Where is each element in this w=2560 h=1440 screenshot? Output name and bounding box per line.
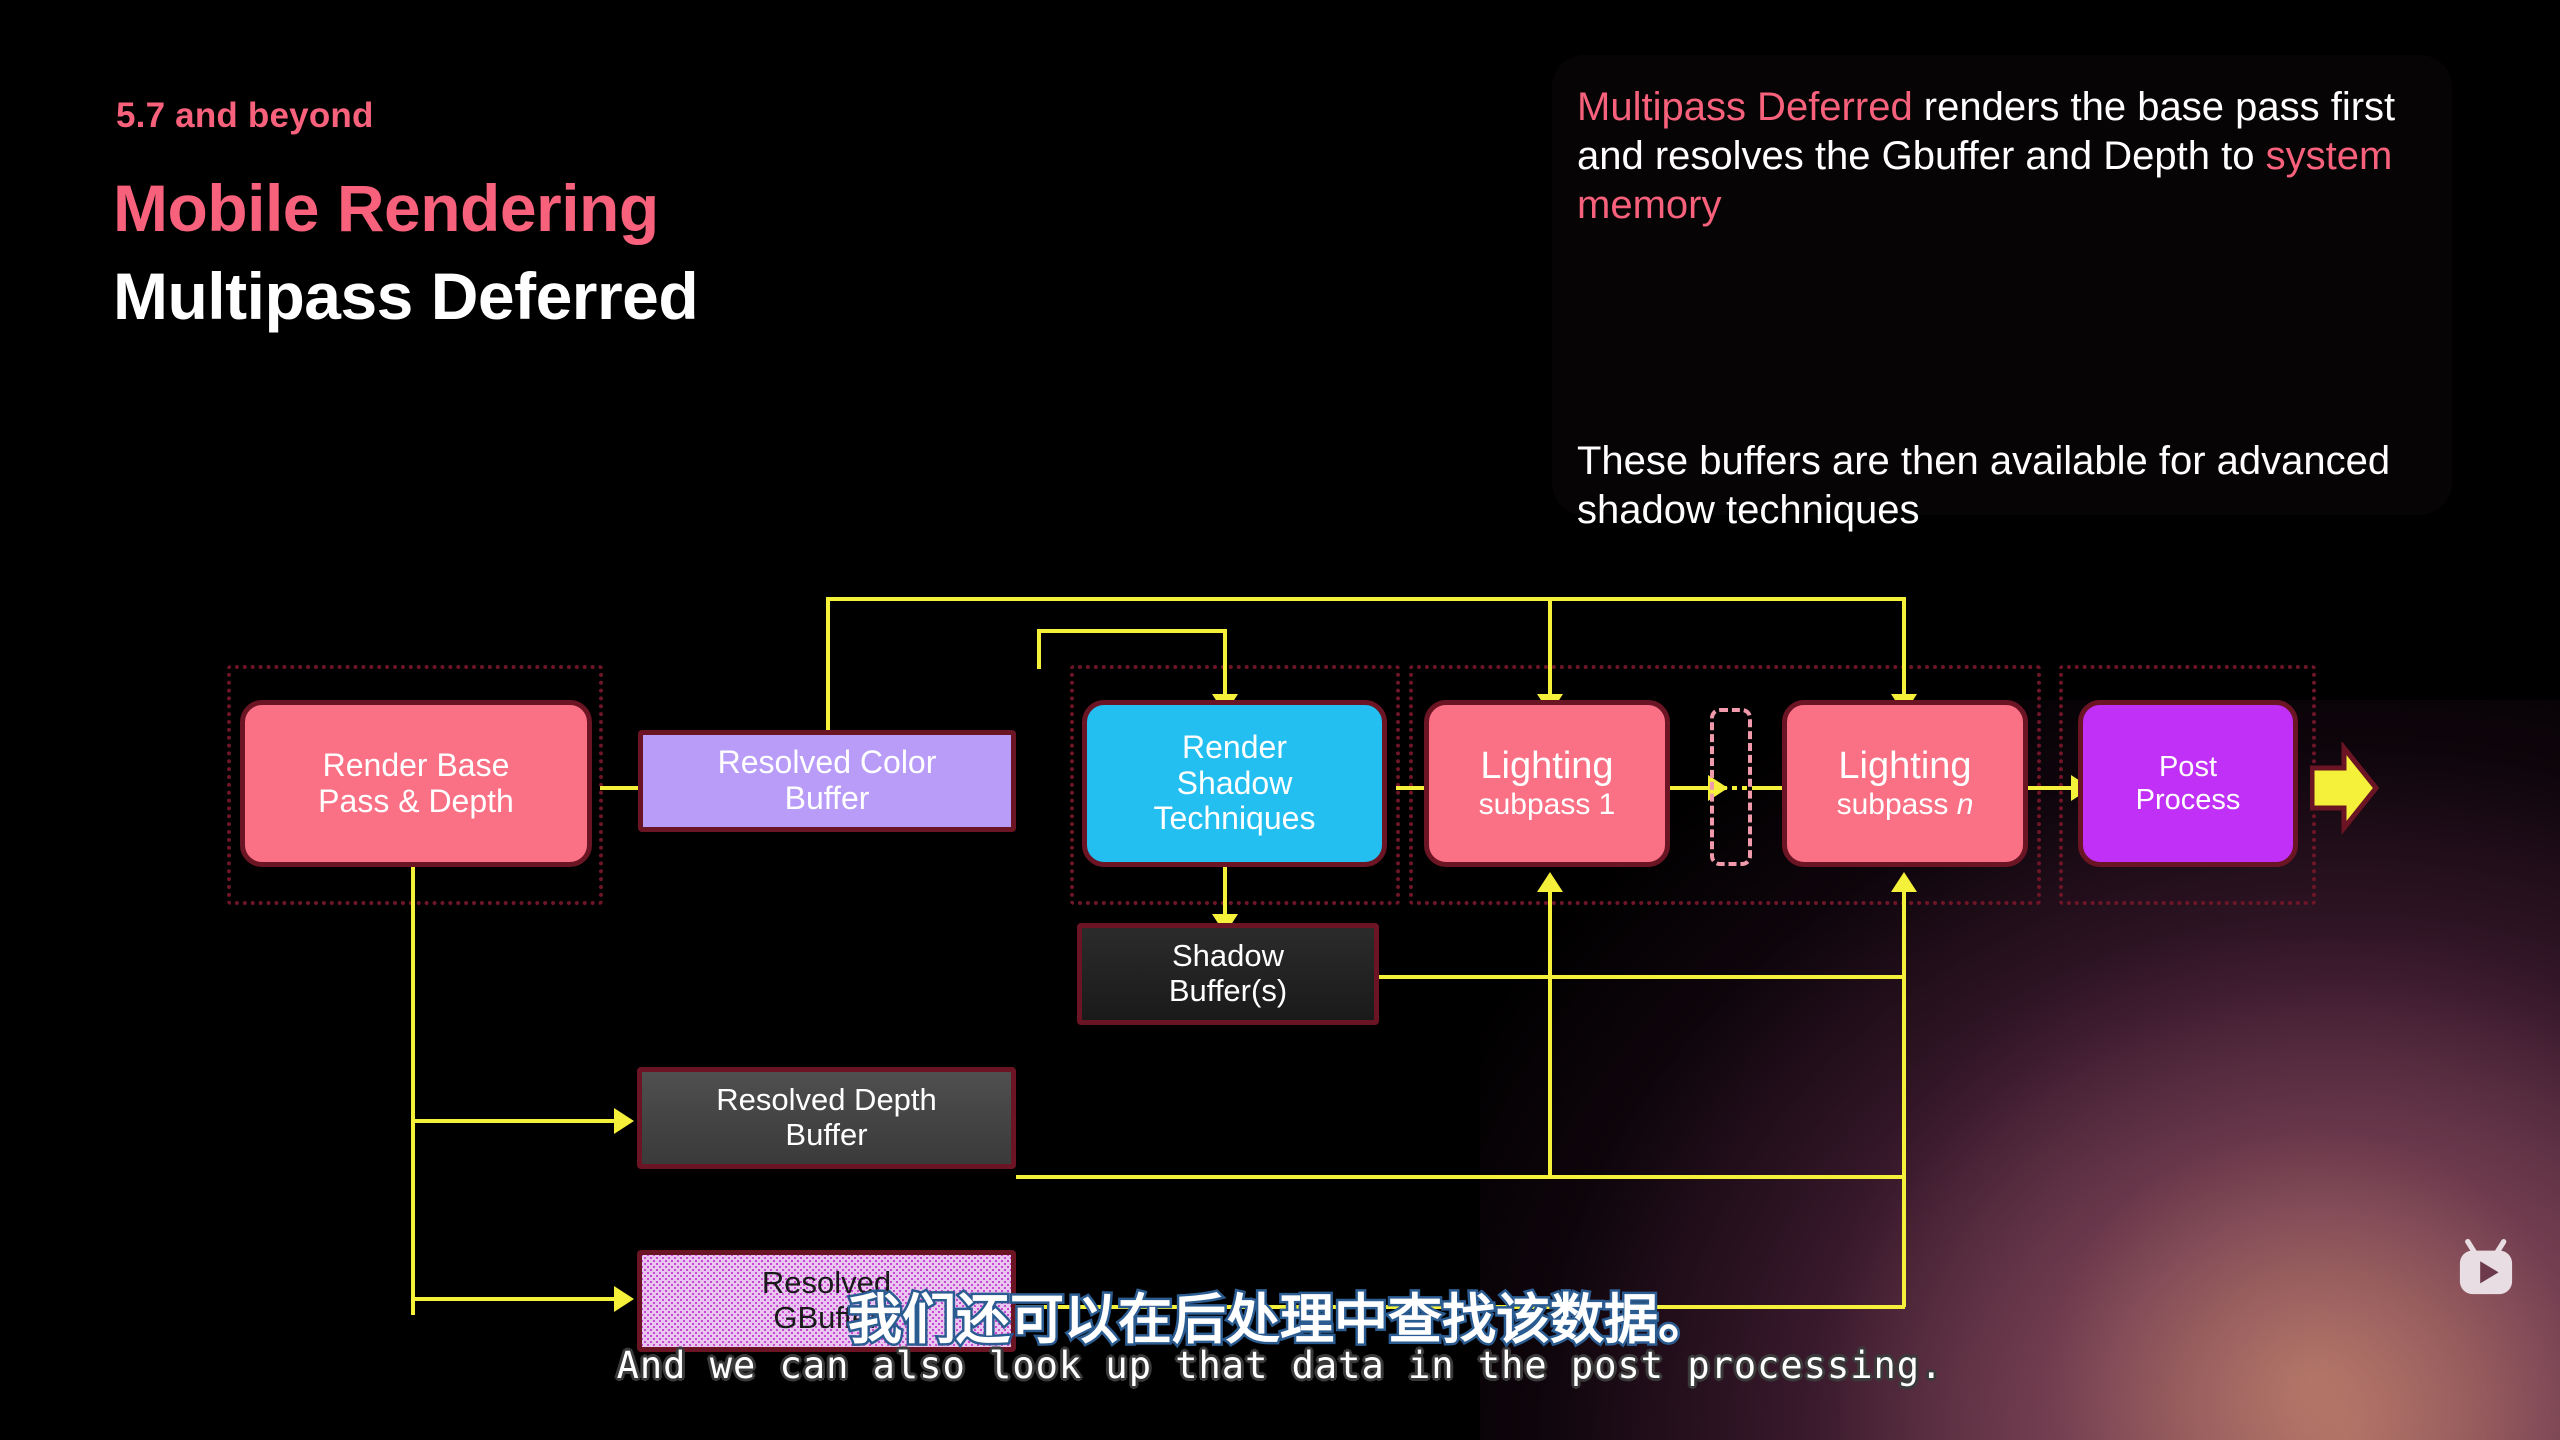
wire-gbuffer-up [1902, 975, 1906, 1307]
node-render-base-pass[interactable]: Render Base Pass & Depth [240, 700, 592, 867]
node-resolved-color-line2: Buffer [718, 781, 937, 817]
node-lightingn-sub-n: n [1957, 788, 1974, 821]
wire-to-depth [411, 1119, 616, 1123]
lighting-ellipsis-box [1710, 708, 1752, 866]
node-lightingn-sub: subpass n [1837, 788, 1974, 822]
node-lightingn-title: Lighting [1837, 745, 1974, 788]
node-resolved-color-buffer[interactable]: Resolved Color Buffer [638, 730, 1016, 832]
subtitle-chinese: 我们还可以在后处理中查找该数据。 [0, 1275, 2560, 1354]
wire-shadow-feed-top [1037, 629, 1227, 633]
wire-base-down [411, 855, 415, 1315]
node-resolved-depth-buffer[interactable]: Resolved Depth Buffer [637, 1067, 1016, 1169]
wire-l1-to-ellipsis [1668, 786, 1710, 790]
node-lighting1-title: Lighting [1479, 745, 1616, 788]
node-shadow-line1: Render [1154, 730, 1316, 766]
node-lighting-subpass-1[interactable]: Lighting subpass 1 [1424, 700, 1670, 867]
wire-top-bus-1 [826, 597, 1906, 601]
node-lighting1-sub: subpass 1 [1479, 788, 1616, 822]
wire-shadowbuf-up [1902, 880, 1906, 977]
node-shadow-buffers[interactable]: Shadow Buffer(s) [1077, 923, 1379, 1025]
wire-down-lightingn [1902, 597, 1906, 697]
wire-shadow-feed-up [1037, 629, 1041, 669]
node-render-shadow-techniques[interactable]: Render Shadow Techniques [1082, 700, 1387, 867]
node-render-base-line1: Render Base [318, 748, 514, 784]
wire-shadow-to-buffer [1223, 862, 1227, 917]
node-render-base-line2: Pass & Depth [318, 784, 514, 820]
wire-shadowbuf-right [1378, 975, 1905, 979]
node-shadow-buffer-line1: Shadow [1169, 939, 1287, 974]
node-lightingn-sub-pre: subpass [1837, 788, 1957, 821]
arrowhead-depth-in [614, 1108, 634, 1134]
pipeline-diagram: Render Base Pass & Depth Resolved Color … [0, 0, 2560, 1440]
subtitle-english: And we can also look up that data in the… [0, 1344, 2560, 1387]
node-post-process[interactable]: Post Process [2078, 700, 2298, 867]
arrowhead-lightingn-bottom [1891, 872, 1917, 892]
node-shadow-buffer-line2: Buffer(s) [1169, 974, 1287, 1009]
node-post-line1: Post [2136, 751, 2241, 783]
wire-ln-to-post [2026, 786, 2074, 790]
wire-shadow-feed-down [1223, 629, 1227, 697]
wire-color-up [826, 597, 830, 747]
node-resolved-depth-line2: Buffer [716, 1118, 937, 1153]
wire-depth-up-l1 [1548, 880, 1552, 1177]
node-post-line2: Process [2136, 784, 2241, 816]
node-resolved-color-line1: Resolved Color [718, 745, 937, 781]
wire-down-lighting1 [1548, 597, 1552, 697]
slide-canvas: 5.7 and beyond Mobile Rendering Multipas… [0, 0, 2560, 1440]
pipeline-output-arrow [2310, 742, 2380, 834]
wire-depthbuf-right [1016, 1175, 1905, 1179]
tv-play-icon[interactable] [2455, 1238, 2517, 1296]
node-resolved-depth-line1: Resolved Depth [716, 1083, 937, 1118]
node-shadow-line3: Techniques [1154, 801, 1316, 837]
arrowhead-lighting1-bottom [1537, 872, 1563, 892]
node-shadow-line2: Shadow [1154, 766, 1316, 802]
node-lighting-subpass-n[interactable]: Lighting subpass n [1782, 700, 2028, 867]
